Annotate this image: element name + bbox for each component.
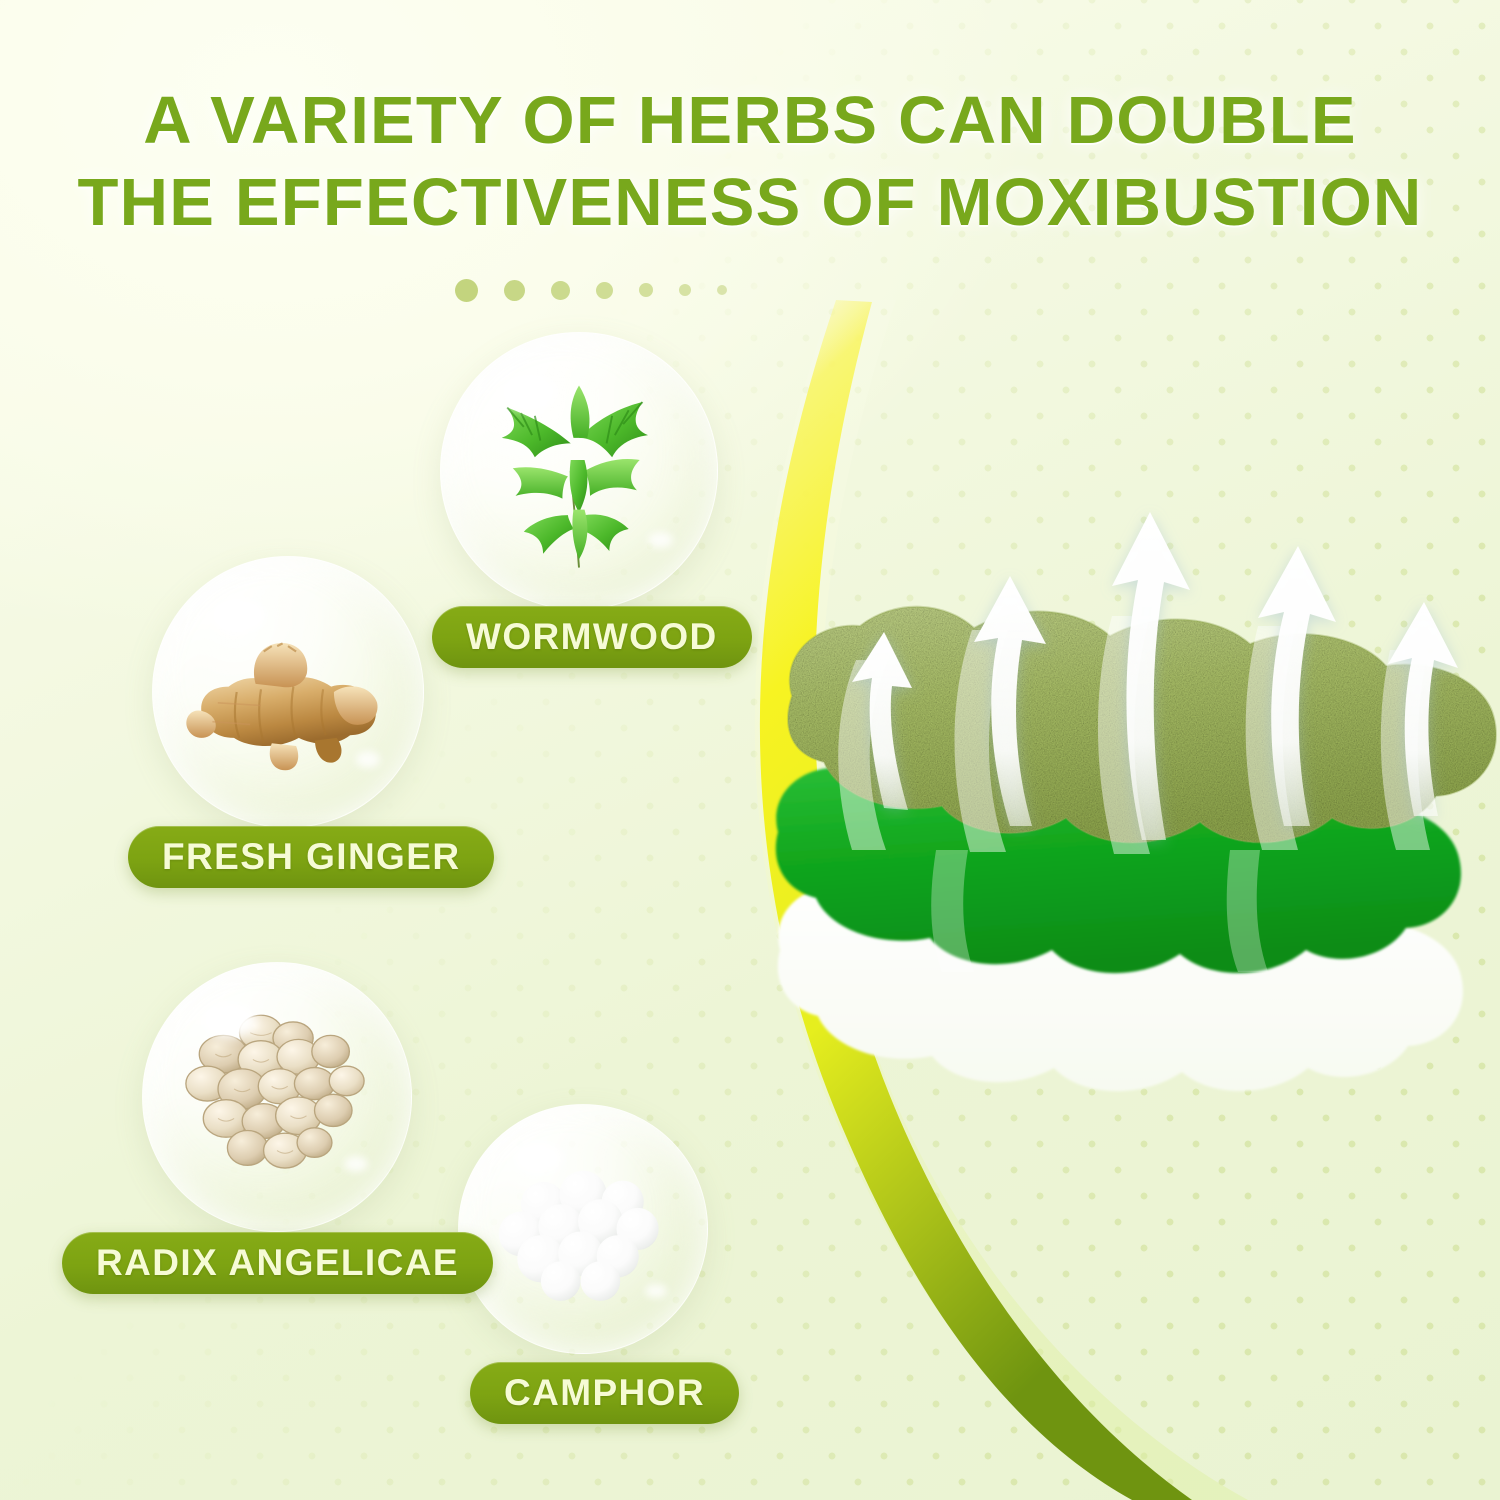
ingredient-chip-camphor[interactable]: CAMPHOR <box>470 1362 739 1424</box>
ingredient-chip-label: CAMPHOR <box>504 1372 705 1414</box>
ingredient-chip-label: FRESH GINGER <box>162 836 460 878</box>
wormwood-sprig-icon <box>441 333 717 609</box>
ingredient-chip-fresh-ginger[interactable]: FRESH GINGER <box>128 826 494 888</box>
ingredient-chip-label: WORMWOOD <box>466 616 718 658</box>
ingredient-bubble-fresh-ginger[interactable] <box>152 556 424 828</box>
ginger-root-icon <box>153 557 423 827</box>
decorative-dot <box>639 283 653 297</box>
dried-root-slices-icon <box>143 963 411 1231</box>
ingredient-bubble-radix-angelicae[interactable] <box>142 962 412 1232</box>
moxibustion-patch-diagram <box>760 520 1500 1200</box>
decorative-dot <box>679 284 691 296</box>
decorative-dot <box>596 282 613 299</box>
decorative-dot-row <box>455 270 875 310</box>
title-line-2: THE EFFECTIVENESS OF MOXIBUSTION <box>0 162 1500 244</box>
ingredient-bubble-camphor[interactable] <box>458 1104 708 1354</box>
decorative-dot <box>504 280 525 301</box>
title-line-1: A VARIETY OF HERBS CAN DOUBLE <box>0 80 1500 162</box>
ingredient-chip-label: RADIX ANGELICAE <box>96 1242 459 1284</box>
ingredient-chip-radix-angelicae[interactable]: RADIX ANGELICAE <box>62 1232 493 1294</box>
decorative-dot <box>455 279 478 302</box>
decorative-dot <box>717 285 727 295</box>
ingredient-bubble-wormwood[interactable] <box>440 332 718 610</box>
ingredient-chip-wormwood[interactable]: WORMWOOD <box>432 606 752 668</box>
camphor-balls-icon <box>459 1105 707 1353</box>
page-title: A VARIETY OF HERBS CAN DOUBLE THE EFFECT… <box>0 80 1500 244</box>
decorative-dot <box>551 281 570 300</box>
